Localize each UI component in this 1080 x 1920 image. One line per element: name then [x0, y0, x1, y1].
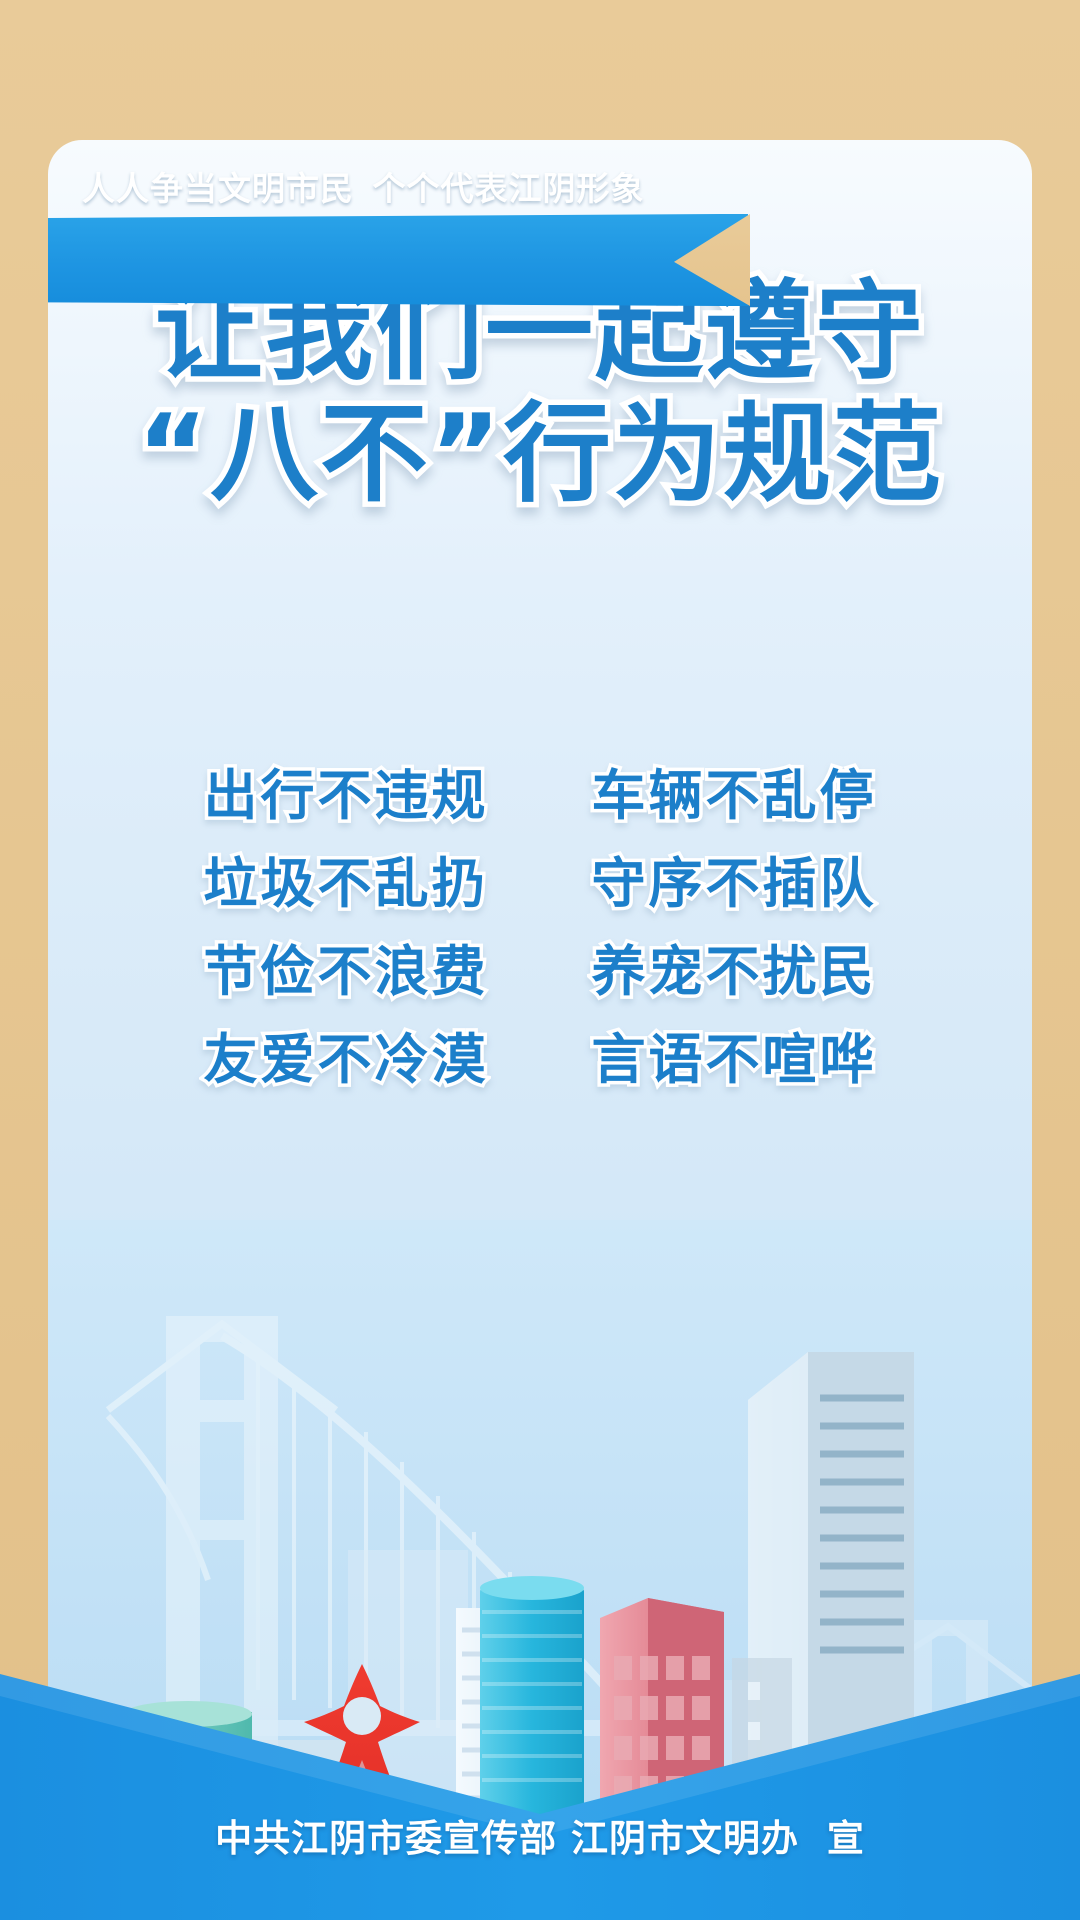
rule-item-5: 节俭不浪费 [160, 928, 532, 1016]
rule-item-8: 言语不喧哗 [548, 1016, 920, 1104]
rule-item-4: 守序不插队 [548, 840, 920, 928]
rule-item-1: 出行不违规 [160, 752, 532, 840]
poster-card: 人人争当文明市民 个个代表江阴形象 让我们一起遵守 “八不”行为规范 出行不违规… [48, 140, 1032, 1840]
footer-band [0, 1600, 1080, 1920]
rule-item-3: 垃圾不乱扔 [160, 840, 532, 928]
rule-item-6: 养宠不扰民 [548, 928, 920, 1016]
rule-item-2: 车辆不乱停 [548, 752, 920, 840]
ribbon-slogan: 人人争当文明市民 个个代表江阴形象 [82, 140, 645, 232]
rule-item-7: 友爱不冷漠 [160, 1016, 532, 1104]
page-title: 让我们一起遵守 “八不”行为规范 [48, 272, 1032, 516]
poster-root: 人人争当文明市民 个个代表江阴形象 让我们一起遵守 “八不”行为规范 出行不违规… [0, 0, 1080, 1920]
title-line-2: “八不”行为规范 [48, 394, 1032, 516]
footer-credit: 中共江阴市委宣传部 江阴市文明办 宣 [0, 1808, 1080, 1862]
rules-grid: 出行不违规 车辆不乱停 垃圾不乱扔 守序不插队 节俭不浪费 养宠不扰民 友爱不冷… [160, 752, 920, 1104]
